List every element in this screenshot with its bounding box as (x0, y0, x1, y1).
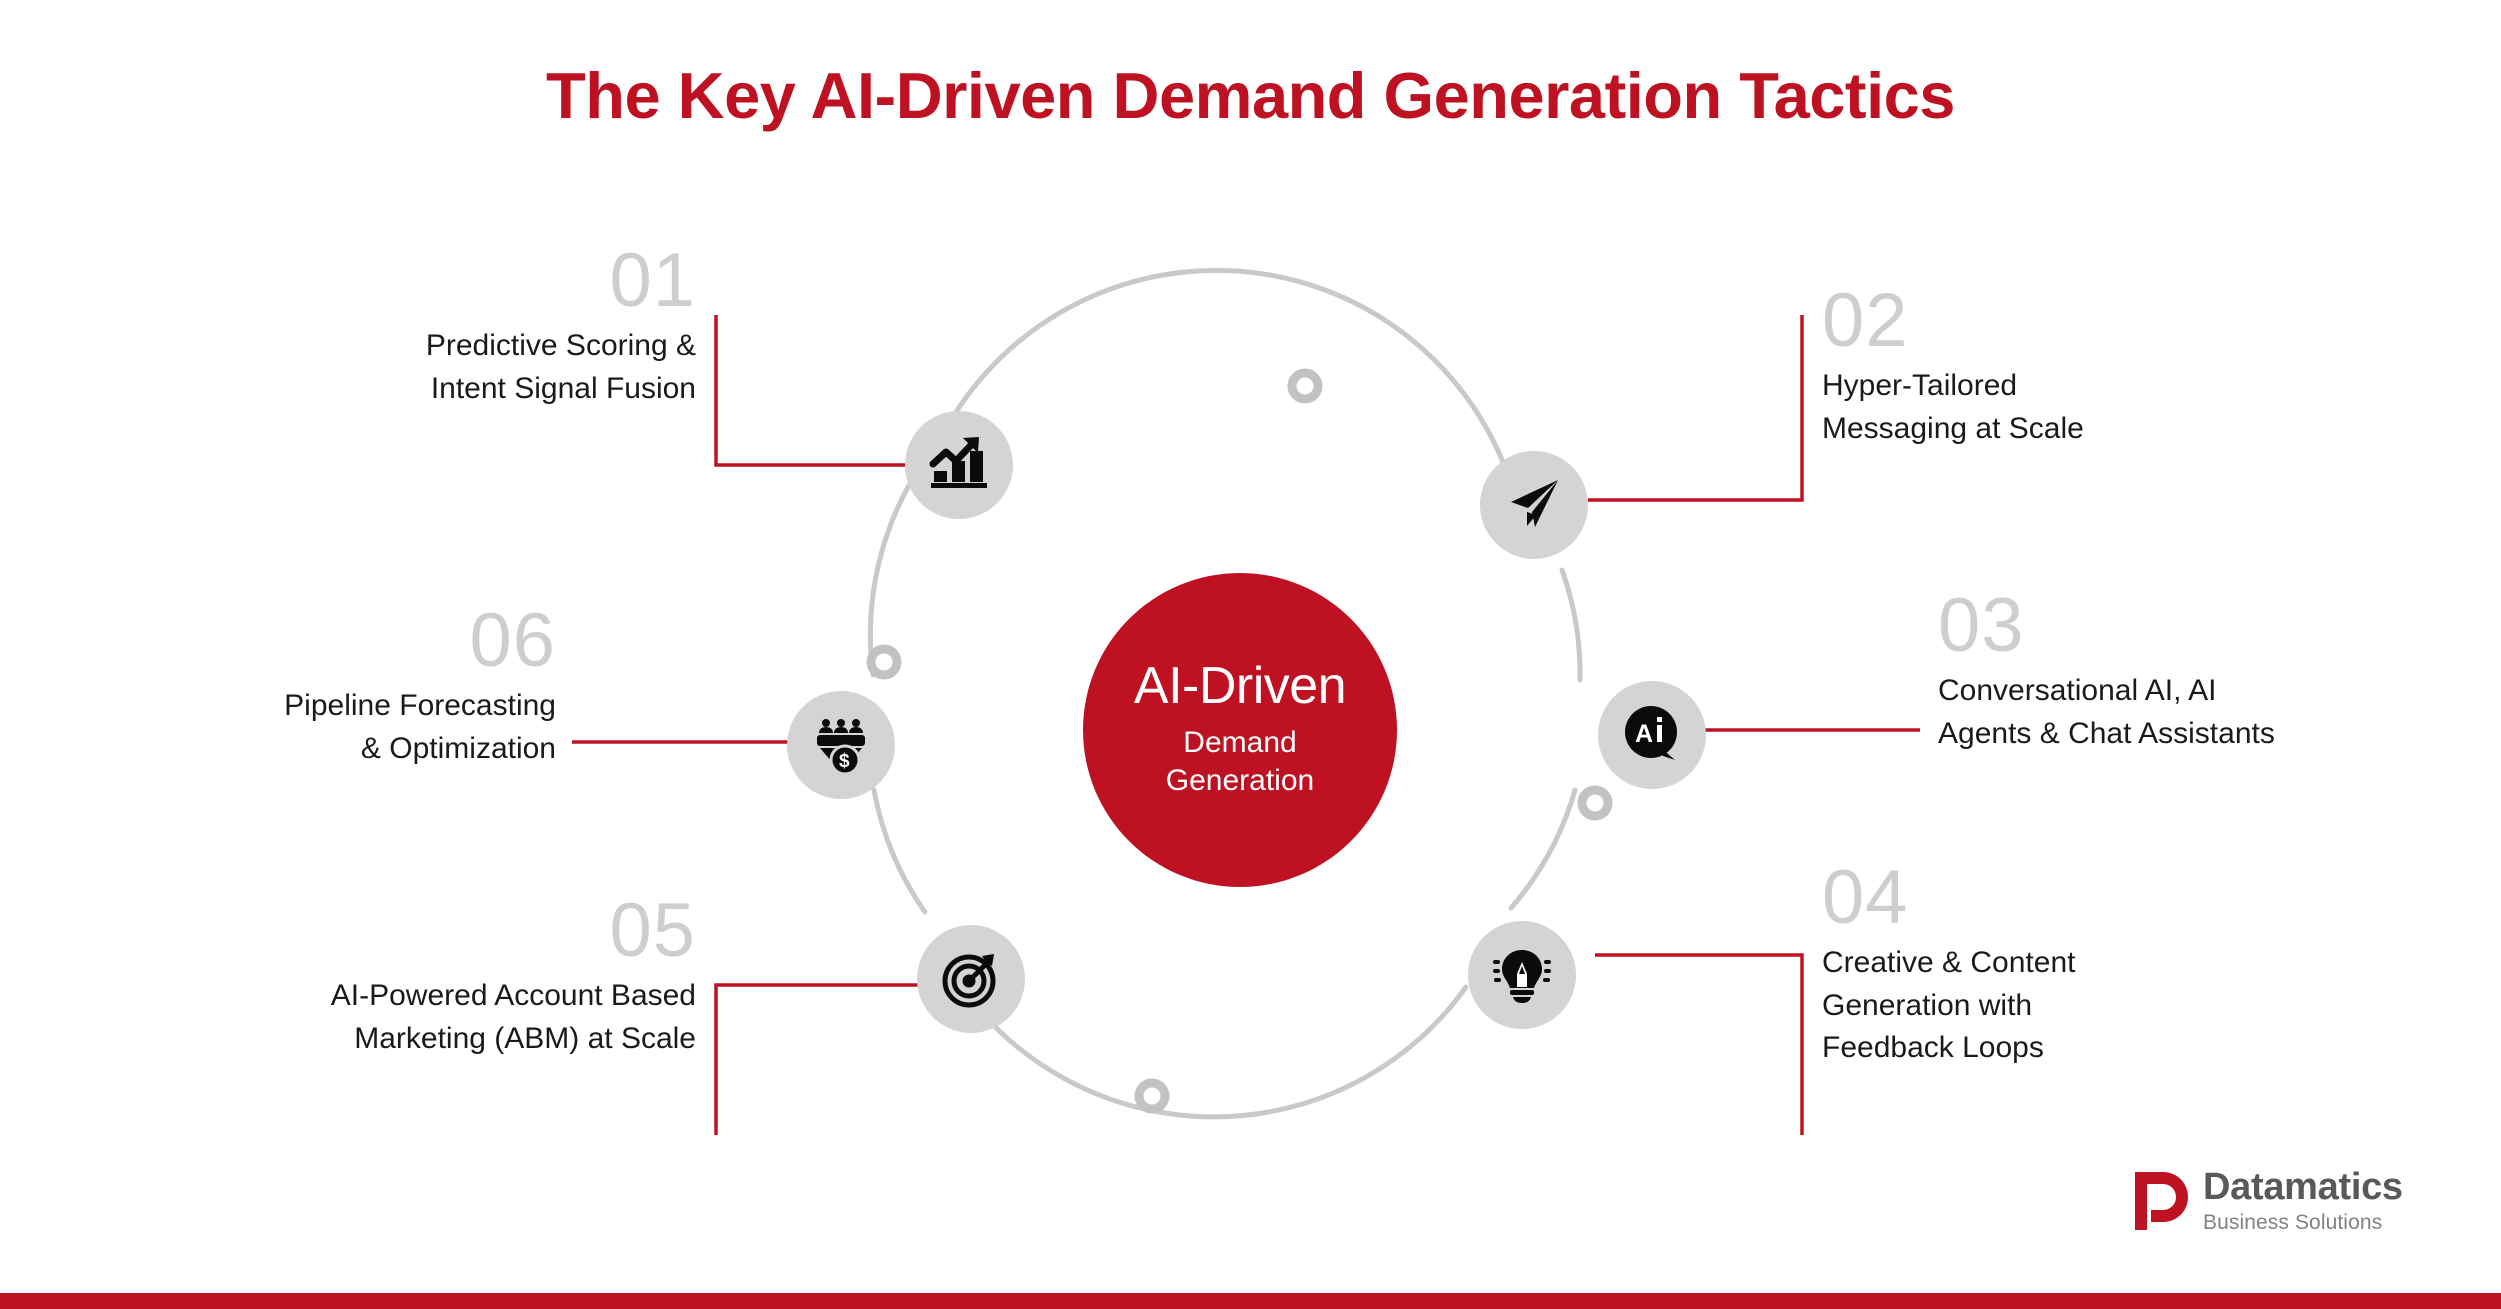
datamatics-mark-icon (2133, 1170, 2189, 1232)
paper-plane-icon (1505, 476, 1563, 534)
center-subtitle-line1: Demand (1183, 724, 1296, 762)
logo-tagline: Business Solutions (2203, 1212, 2403, 1233)
center-title: AI-Driven (1134, 659, 1346, 714)
target-arrow-icon (942, 950, 1000, 1008)
item-label-01: 01 Predictive Scoring & Intent Signal Fu… (236, 245, 696, 410)
ai-chat-bubble-icon: A (1621, 704, 1683, 766)
ring-marker-left-upper (871, 649, 897, 675)
item-text-04: Creative & Content Generation with Feedb… (1822, 942, 2342, 1070)
item-number-05: 05 (196, 895, 696, 967)
icon-disc-04[interactable] (1468, 921, 1576, 1029)
item-label-02: 02 Hyper-Tailored Messaging at Scale (1822, 285, 2342, 450)
bar-chart-growth-icon (929, 436, 989, 494)
item-text-02: Hyper-Tailored Messaging at Scale (1822, 365, 2342, 450)
connector-05-stub (716, 985, 920, 1135)
ring-marker-top-right (1292, 373, 1318, 399)
item-label-05: 05 AI-Powered Account Based Marketing (A… (196, 895, 696, 1060)
ring-marker-right-lower (1582, 790, 1608, 816)
item-number-02: 02 (1822, 285, 2342, 357)
svg-text:$: $ (839, 751, 850, 772)
item-number-01: 01 (236, 245, 696, 317)
icon-disc-03[interactable]: A (1598, 681, 1706, 789)
lightbulb-pencil-icon (1493, 946, 1551, 1004)
item-label-06: 06 Pipeline Forecasting & Optimization (96, 605, 556, 770)
item-number-03: 03 (1938, 590, 2498, 662)
item-text-06: Pipeline Forecasting & Optimization (96, 685, 556, 770)
icon-disc-02[interactable] (1480, 451, 1588, 559)
sales-funnel-dollar-icon: $ (812, 716, 870, 774)
datamatics-logo: Datamatics Business Solutions (2133, 1168, 2403, 1233)
icon-disc-06[interactable]: $ (787, 691, 895, 799)
svg-text:A: A (1635, 720, 1653, 748)
item-text-03: Conversational AI, AI Agents & Chat Assi… (1938, 670, 2498, 755)
item-number-04: 04 (1822, 862, 2342, 934)
item-text-01: Predictive Scoring & Intent Signal Fusio… (236, 325, 696, 410)
item-number-06: 06 (96, 605, 556, 677)
center-hub: AI-Driven Demand Generation (1083, 573, 1397, 887)
connector-02 (1588, 315, 1802, 500)
icon-disc-01[interactable] (905, 411, 1013, 519)
item-label-03: 03 Conversational AI, AI Agents & Chat A… (1938, 590, 2498, 755)
bottom-accent-bar (0, 1293, 2501, 1309)
ring-marker-bottom-left (1139, 1083, 1165, 1109)
icon-disc-05[interactable] (917, 925, 1025, 1033)
item-label-04: 04 Creative & Content Generation with Fe… (1822, 862, 2342, 1070)
connector-04 (1595, 955, 1802, 1135)
connector-01 (716, 315, 910, 465)
connector-05 (716, 985, 920, 1135)
center-subtitle-line2: Generation (1166, 762, 1314, 800)
logo-name: Datamatics (2203, 1168, 2403, 1206)
item-text-05: AI-Powered Account Based Marketing (ABM)… (196, 975, 696, 1060)
infographic-canvas: The Key AI-Driven Demand Generation Tact… (0, 0, 2501, 1309)
